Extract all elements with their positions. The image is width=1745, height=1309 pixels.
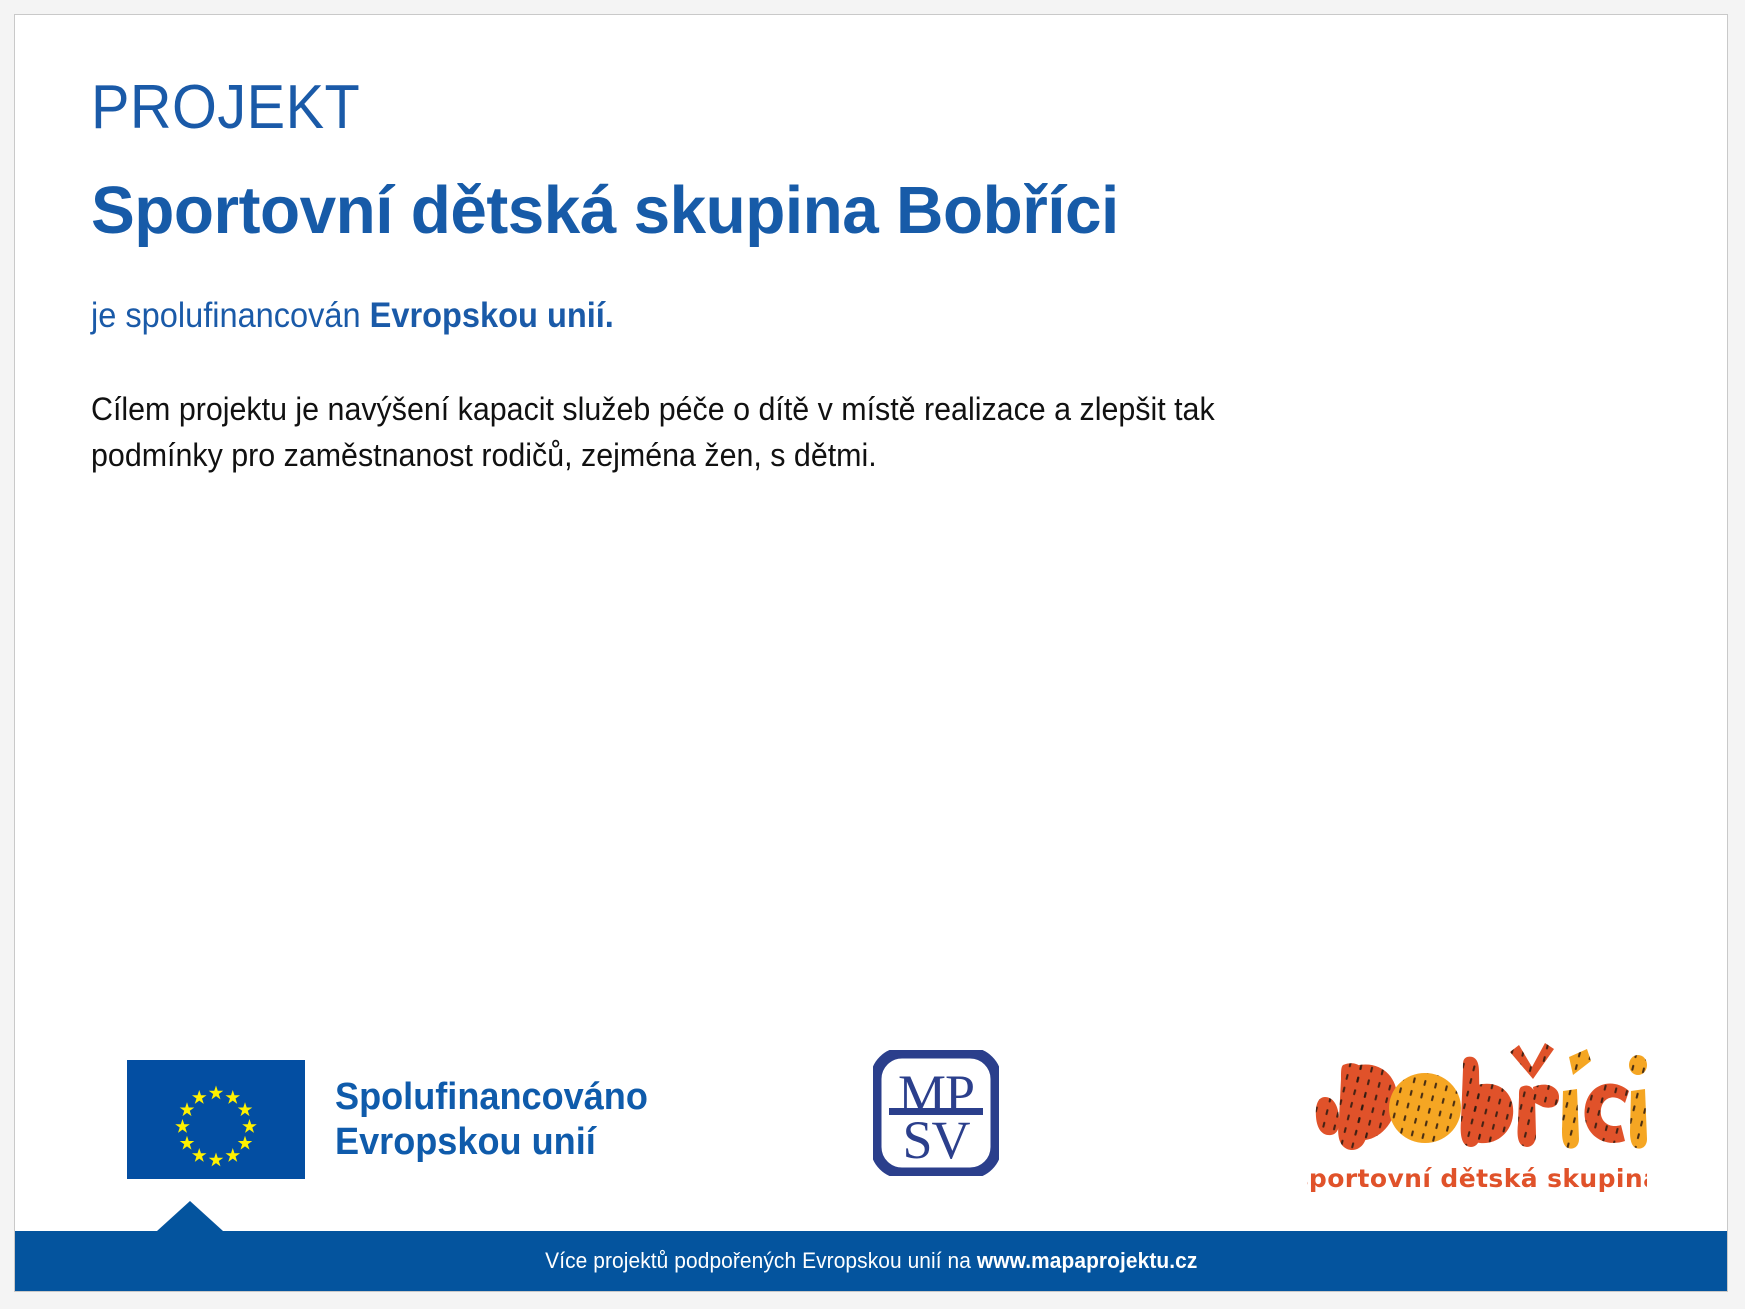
bobrici-tagline: sportovní dětská skupina bbox=[1307, 1164, 1647, 1193]
footer-url[interactable]: www.mapaprojektu.cz bbox=[977, 1248, 1198, 1273]
poster-kicker: PROJEKT bbox=[91, 77, 1557, 139]
footer-text-plain: Více projektů podpořených Evropskou unií… bbox=[545, 1248, 977, 1273]
eu-flag-icon bbox=[127, 1060, 305, 1179]
footer-text: Více projektů podpořených Evropskou unií… bbox=[545, 1248, 1197, 1274]
eu-cofunding-logo: Spolufinancováno Evropskou unií bbox=[127, 1060, 664, 1179]
eu-cofunding-label: Spolufinancováno Evropskou unií bbox=[335, 1075, 648, 1165]
poster-content: PROJEKT Sportovní dětská skupina Bobříci… bbox=[91, 77, 1667, 478]
poster-page: PROJEKT Sportovní dětská skupina Bobříci… bbox=[14, 14, 1728, 1292]
svg-text:SV: SV bbox=[902, 1110, 970, 1170]
subline-plain: je spolufinancován bbox=[91, 296, 370, 335]
eu-cofunding-line1: Spolufinancováno bbox=[335, 1075, 648, 1120]
subline-bold: Evropskou unií. bbox=[370, 296, 614, 335]
logo-row: Spolufinancováno Evropskou unií MP SV bbox=[15, 1035, 1727, 1215]
poster-body: Cílem projektu je navýšení kapacit služe… bbox=[91, 387, 1345, 478]
poster-subline: je spolufinancován Evropskou unií. bbox=[91, 295, 1557, 337]
eu-cofunding-line2: Evropskou unií bbox=[335, 1120, 648, 1165]
footer-notch-arrow bbox=[157, 1201, 223, 1231]
bobrici-logo-icon: sportovní dětská skupina bbox=[1307, 1035, 1647, 1205]
footer-bar: Více projektů podpořených Evropskou unií… bbox=[15, 1231, 1727, 1291]
page-title: Sportovní dětská skupina Bobříci bbox=[91, 175, 1635, 247]
mpsv-logo-icon: MP SV bbox=[873, 1050, 999, 1176]
